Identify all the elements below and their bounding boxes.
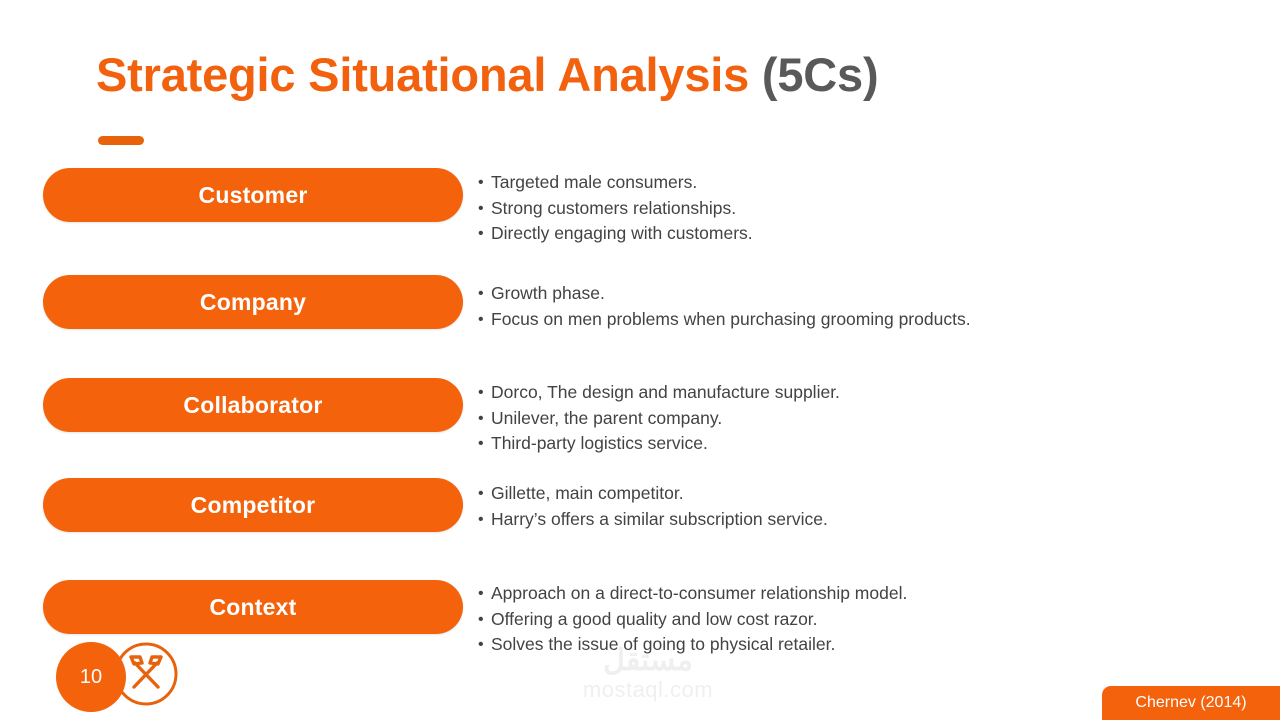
list-item: Harry’s offers a similar subscription se… [478,507,1178,533]
list-item: Growth phase. [478,281,1178,307]
list-item: Solves the issue of going to physical re… [478,632,1178,658]
list-item: Directly engaging with customers. [478,221,1178,247]
bullets-collaborator: Dorco, The design and manufacture suppli… [478,380,1178,457]
pill-label-competitor: Competitor [191,492,316,519]
bullets-customer: Targeted male consumers. Strong customer… [478,170,1178,247]
list-item: Unilever, the parent company. [478,406,1178,432]
pill-competitor[interactable]: Competitor [43,478,463,532]
list-item: Focus on men problems when purchasing gr… [478,307,1178,333]
pill-label-company: Company [200,289,306,316]
citation-badge: Chernev (2014) [1102,686,1280,720]
slide-canvas: Strategic Situational Analysis (5Cs) Cus… [0,0,1280,720]
page-number: 10 [80,666,102,689]
bullets-company: Growth phase. Focus on men problems when… [478,281,1178,332]
page-number-badge: 10 [56,642,126,712]
list-item: Approach on a direct-to-consumer relatio… [478,581,1178,607]
list-item: Third-party logistics service. [478,431,1178,457]
bullets-context: Approach on a direct-to-consumer relatio… [478,581,1178,658]
pill-label-context: Context [209,594,296,621]
pill-customer[interactable]: Customer [43,168,463,222]
list-item: Offering a good quality and low cost raz… [478,607,1178,633]
bullets-competitor: Gillette, main competitor. Harry’s offer… [478,481,1178,532]
pill-label-collaborator: Collaborator [183,392,322,419]
list-item: Strong customers relationships. [478,196,1178,222]
list-item: Targeted male consumers. [478,170,1178,196]
pill-context[interactable]: Context [43,580,463,634]
pill-label-customer: Customer [199,182,308,209]
list-item: Gillette, main competitor. [478,481,1178,507]
pill-company[interactable]: Company [43,275,463,329]
list-item: Dorco, The design and manufacture suppli… [478,380,1178,406]
five-cs-rows: Customer Targeted male consumers. Strong… [0,0,1280,720]
citation-text: Chernev (2014) [1135,694,1246,712]
pill-collaborator[interactable]: Collaborator [43,378,463,432]
